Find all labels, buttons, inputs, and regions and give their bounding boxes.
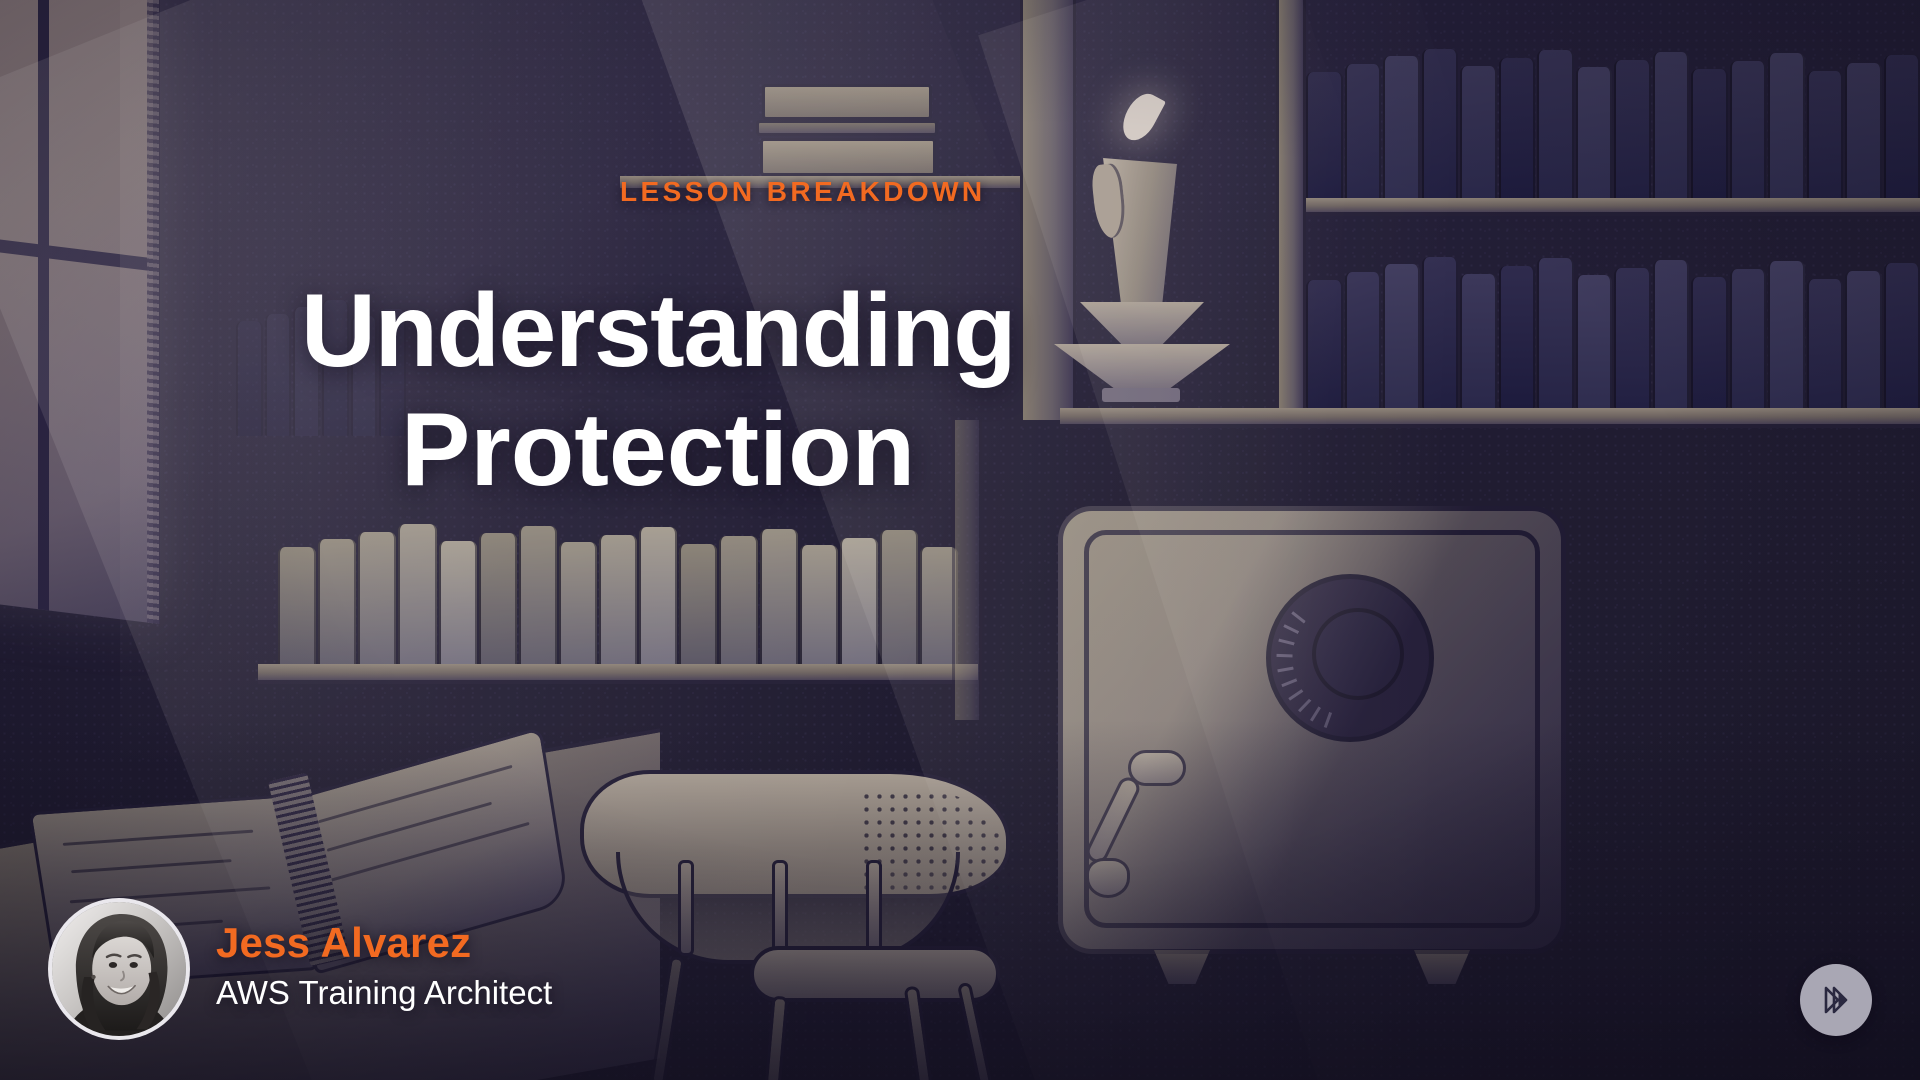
double-play-triangle-icon [1815,979,1857,1021]
title-line-1: Understanding [228,272,1088,391]
lesson-title-slide: LESSON BREAKDOWN Understanding Protectio… [0,0,1920,1080]
slide-content: LESSON BREAKDOWN Understanding Protectio… [0,0,1920,1080]
presenter-text: Jess Alvarez AWS Training Architect [216,919,552,1019]
eyebrow-label: LESSON BREAKDOWN [620,176,986,208]
presenter-role: AWS Training Architect [216,972,552,1013]
title-line-2: Protection [228,391,1088,510]
page-title: Understanding Protection [228,272,1088,509]
presenter-block: Jess Alvarez AWS Training Architect [48,898,552,1040]
presenter-name: Jess Alvarez [216,919,552,966]
avatar [48,898,190,1040]
brand-logo-badge[interactable] [1800,964,1872,1036]
